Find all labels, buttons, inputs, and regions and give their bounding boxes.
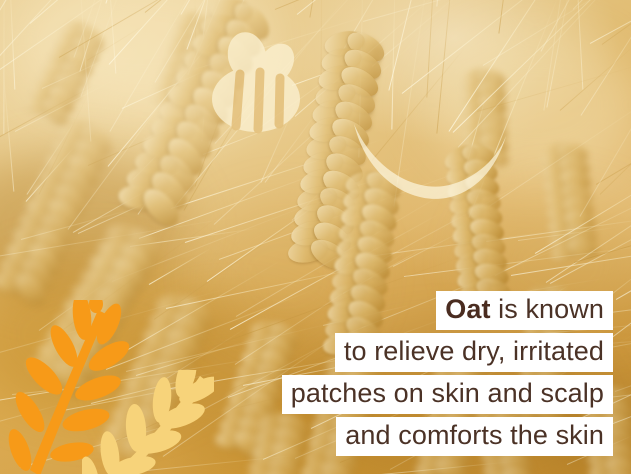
copy-line-4: and comforts the skin: [336, 417, 613, 456]
benefit-copy-block: Oat is known to relieve dry, irritated p…: [282, 291, 613, 456]
bee-icon: [206, 32, 312, 136]
copy-line-1: Oat is known: [436, 291, 613, 330]
wheat-sprig-cream-icon: [82, 370, 214, 474]
copy-line-1-text: is known: [491, 294, 604, 324]
smile-crescent-icon: [350, 118, 510, 204]
copy-line-2: to relieve dry, irritated: [335, 333, 613, 372]
copy-highlight-oat: Oat: [445, 294, 490, 324]
copy-line-3: patches on skin and scalp: [282, 375, 613, 414]
oat-benefits-banner: Oat is known to relieve dry, irritated p…: [0, 0, 631, 474]
